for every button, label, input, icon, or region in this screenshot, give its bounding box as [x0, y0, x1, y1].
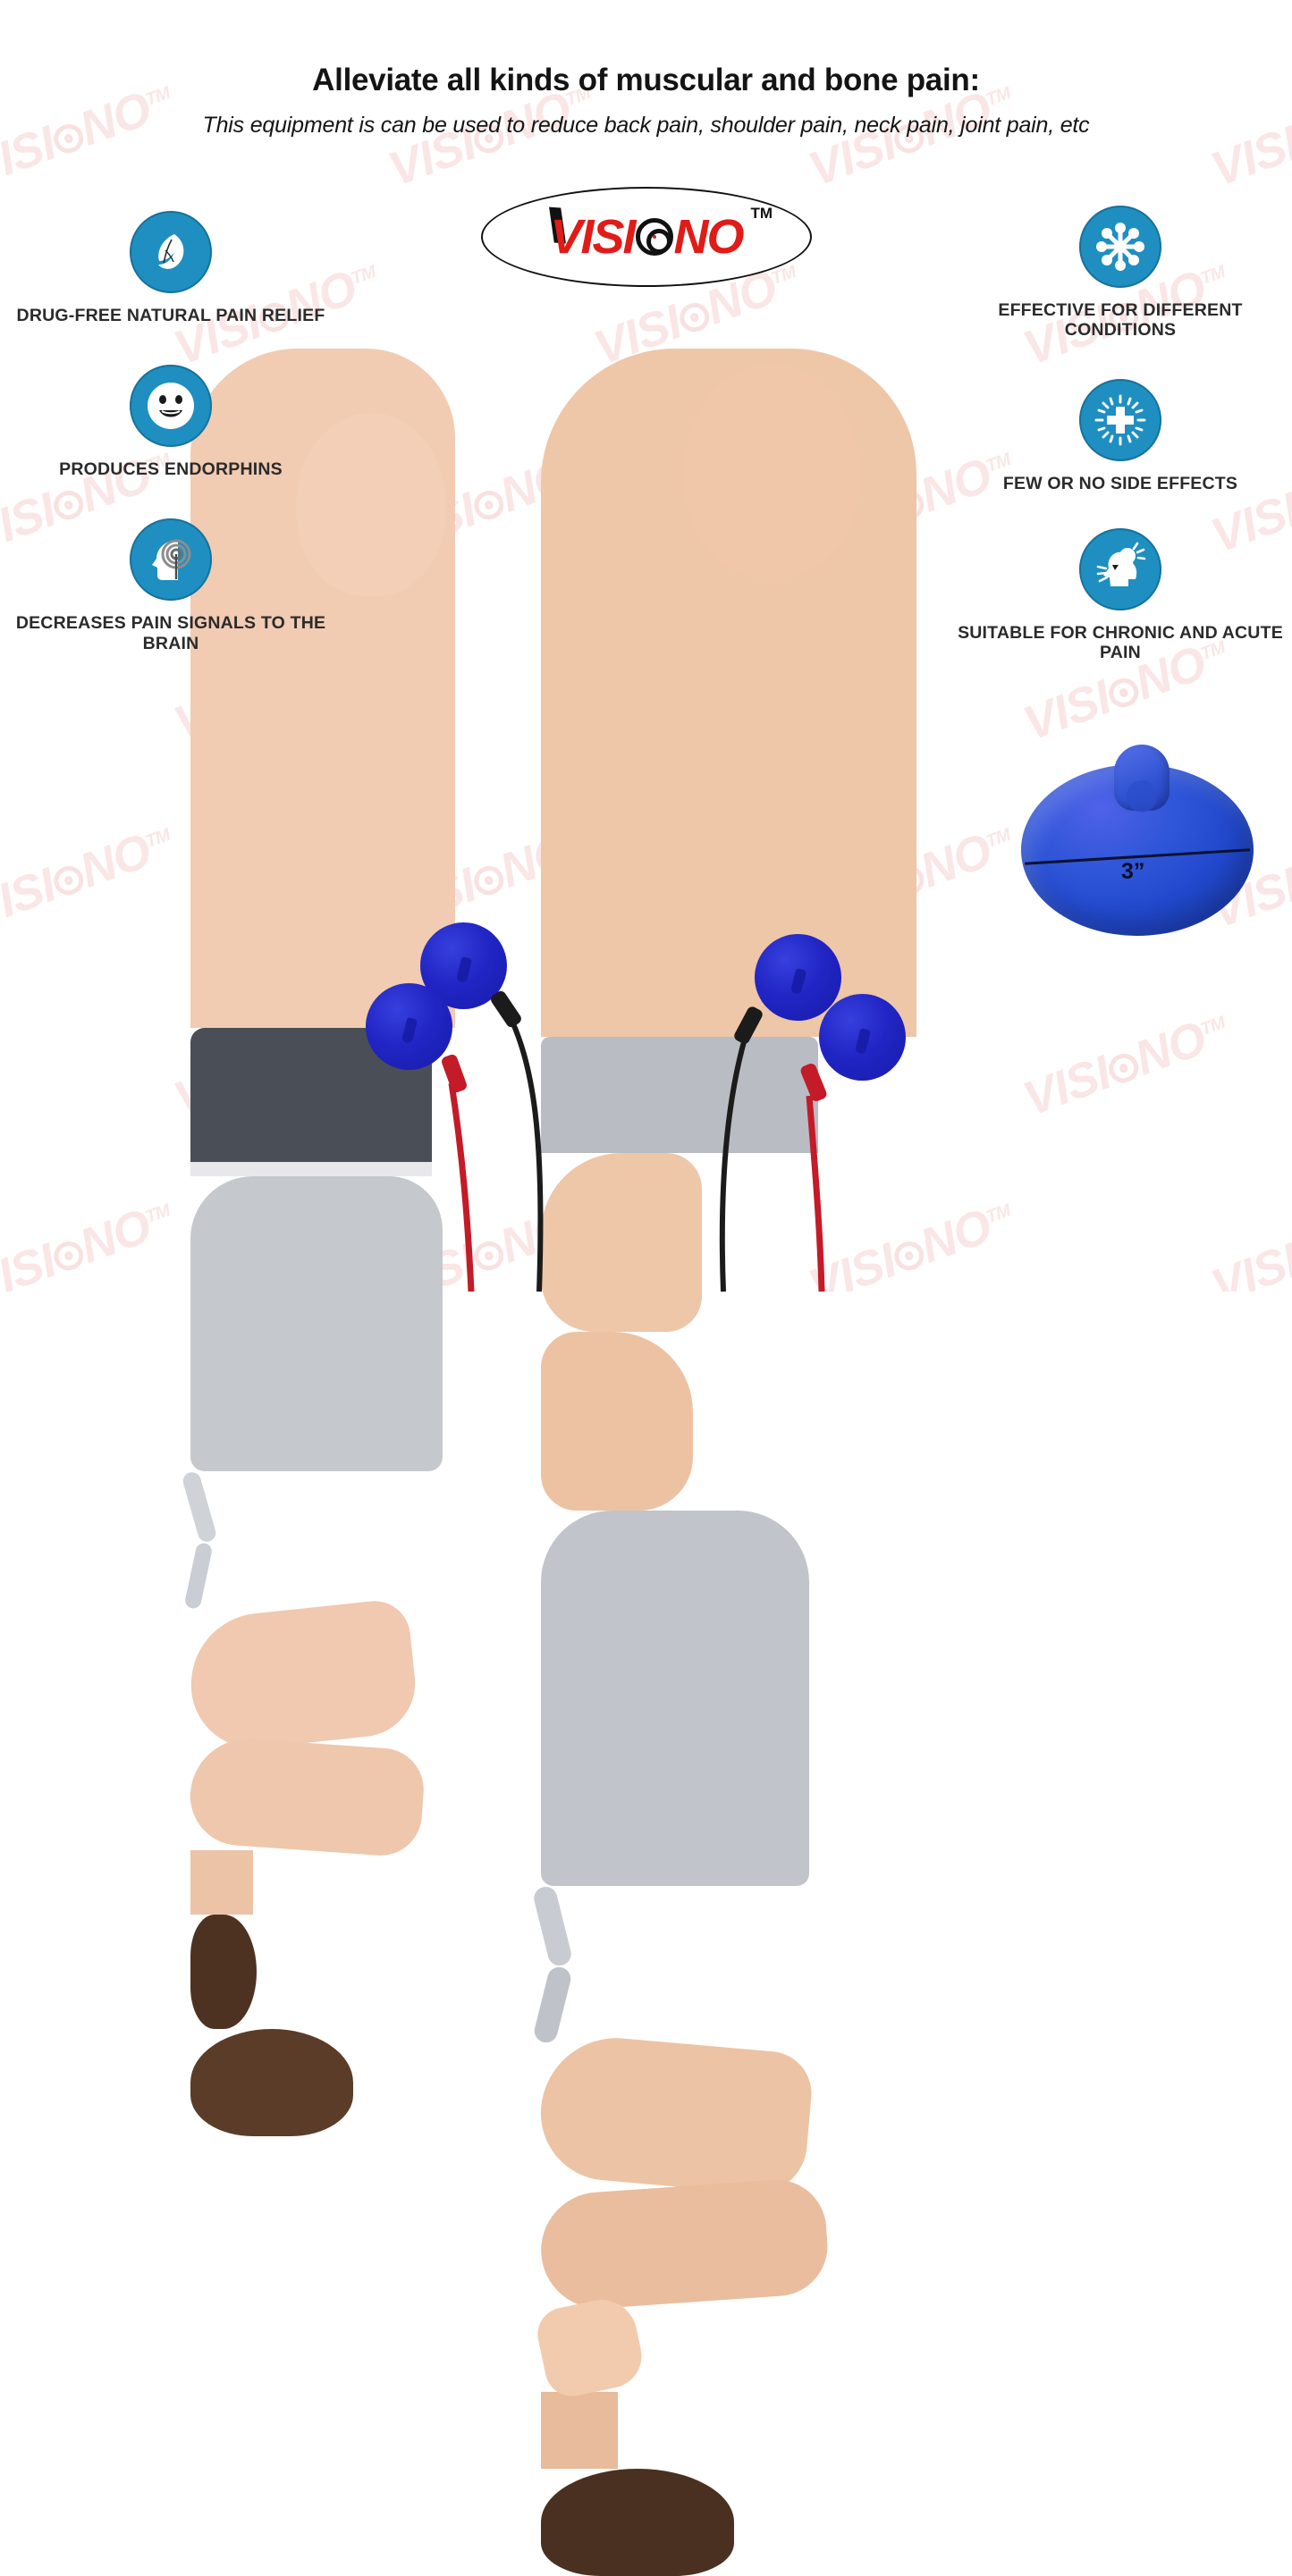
medical-cross-icon: [1079, 379, 1161, 461]
feature-produces-endorphins: PRODUCES ENDORPHINS: [5, 365, 336, 479]
feature-label: DRUG-FREE NATURAL PAIN RELIEF: [5, 306, 336, 325]
wire-red-woman: [452, 1083, 471, 1292]
feature-label: FEW OR NO SIDE EFFECTS: [955, 474, 1286, 493]
feature-label: PRODUCES ENDORPHINS: [5, 459, 336, 479]
trademark-symbol: TM: [750, 205, 773, 223]
man-hair: [541, 2469, 734, 2576]
feature-effective-for-different-conditions: EFFECTIVE FOR DIFFERENT CONDITIONS: [955, 206, 1286, 340]
woman-upper-arm: [184, 1597, 420, 1754]
feature-list-right: EFFECTIVE FOR DIFFERENT CONDITIONS: [955, 206, 1286, 682]
size-label: 3”: [1121, 859, 1144, 885]
wire-black-man: [722, 1039, 745, 1292]
woman-neck: [190, 1850, 253, 1915]
man-shoulder-right: [541, 1332, 693, 1511]
wire-black-woman: [507, 1010, 541, 1292]
electrode-pad-man-upper: [755, 934, 841, 1021]
person-in-pain-icon: [1079, 528, 1161, 610]
smiley-face-icon: [130, 365, 212, 447]
man-neck: [541, 2392, 618, 2469]
leaf-icon: [130, 211, 212, 293]
brand-logo-n: N: [674, 213, 707, 261]
electrode-pad-woman-lower: [366, 983, 452, 1070]
feature-label: EFFECTIVE FOR DIFFERENT CONDITIONS: [955, 300, 1286, 340]
woman-top-strap-right: [184, 1542, 214, 1610]
man-tank-top: [541, 1511, 809, 1886]
feature-list-left: DRUG-FREE NATURAL PAIN RELIEF PRODUCES E…: [5, 211, 336, 673]
feature-drug-free-natural-pain-relief: DRUG-FREE NATURAL PAIN RELIEF: [5, 211, 336, 325]
feature-decreases-pain-signals: DECREASES PAIN SIGNALS TO THE BRAIN: [5, 518, 336, 652]
page-subtitle: This equipment is can be used to reduce …: [0, 98, 1292, 139]
woman-forearm: [187, 1735, 426, 1858]
header: Alleviate all kinds of muscular and bone…: [0, 0, 1292, 139]
woman-hair: [190, 2029, 353, 2136]
man-top-strap-left: [531, 1884, 573, 1968]
woman-hair-back: [190, 1915, 257, 2029]
bullseye-target-icon: [636, 218, 673, 256]
feature-suitable-for-chronic-acute-pain: SUITABLE FOR CHRONIC AND ACUTE PAIN: [955, 528, 1286, 662]
product-electrode-pad: 3”: [1021, 745, 1254, 937]
page-title: Alleviate all kinds of muscular and bone…: [0, 0, 1292, 98]
feature-label: SUITABLE FOR CHRONIC AND ACUTE PAIN: [955, 623, 1286, 662]
man-hand: [533, 2294, 647, 2402]
brand-logo: VISI N O TM: [481, 187, 812, 287]
woman-top-strap-left: [181, 1470, 217, 1544]
man-top-strap-right: [532, 1965, 573, 2045]
head-signal-icon: [130, 518, 212, 601]
electrode-pad-stud: [1114, 745, 1170, 811]
promo-stage: Alleviate all kinds of muscular and bone…: [0, 0, 1292, 1292]
man-forearm: [537, 2176, 831, 2312]
feature-label: DECREASES PAIN SIGNALS TO THE BRAIN: [5, 613, 336, 652]
electrode-pad-man-lower: [819, 994, 906, 1081]
man-upper-arm: [536, 2032, 815, 2198]
brand-logo-visi: VISI: [550, 213, 634, 261]
feature-few-or-no-side-effects: FEW OR NO SIDE EFFECTS: [955, 379, 1286, 493]
brand-logo-text: VISI N O: [550, 213, 742, 261]
brand-logo-o: O: [707, 213, 743, 261]
molecule-burst-icon: [1079, 206, 1161, 288]
wire-red-man: [809, 1096, 822, 1292]
